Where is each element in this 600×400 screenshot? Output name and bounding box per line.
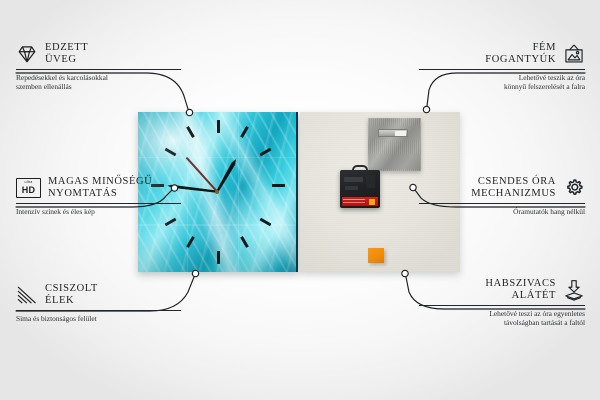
clock-mechanism [340,170,380,208]
feature-hd-print: ultra HD MAGAS MINŐSÉGŰ NYOMTATÁS Intenz… [16,176,181,216]
feature-divider [419,203,585,204]
feature-header: CSISZOLT ÉLEK [16,283,181,307]
mechanism-hanger-loop [352,165,368,172]
infographic-canvas: EDZETT ÜVEG Repedésekkel és karcolásokka… [0,0,600,400]
feature-divider [16,69,181,70]
mechanism-detail [344,177,363,182]
feature-title: MAGAS MINŐSÉGŰ NYOMTATÁS [48,176,152,200]
feature-header: HABSZIVACS ALÁTÉT [419,278,585,302]
gear-icon [563,177,585,199]
feature-description: Repedésekkel és karcolásokkal szemben el… [16,73,181,92]
orange-foam-spacer [368,248,384,263]
feature-header: CSENDES ÓRA MECHANIZMUS [419,176,585,200]
feature-silent-mechanism: CSENDES ÓRA MECHANIZMUS Óramutatók hang … [419,176,585,216]
feature-title: HABSZIVACS ALÁTÉT [485,278,556,302]
feature-header: FÉM FOGANTYÚK [419,42,585,66]
ultra-hd-big-label: HD [22,186,36,195]
mechanism-red-label [342,197,378,206]
feature-polished-edges: CSISZOLT ÉLEK Sima és biztonságos felüle… [16,283,181,323]
feature-description: Óramutatók hang nélkül [419,207,585,216]
feature-divider [16,203,181,204]
feature-divider [16,310,181,311]
feature-tempered-glass: EDZETT ÜVEG Repedésekkel és karcolásokka… [16,42,181,92]
feature-foam-pad: HABSZIVACS ALÁTÉT Lehetővé teszi az óra … [419,278,585,328]
mechanism-detail [345,186,358,190]
picture-frame-icon [563,43,585,65]
feature-title: FÉM FOGANTYÚK [485,42,556,66]
feature-description: Intenzív színek és éles kép [16,207,181,216]
ultra-hd-badge-icon: ultra HD [16,178,41,198]
feature-title: EDZETT ÜVEG [45,42,88,66]
feature-description: Sima és biztonságos felület [16,314,181,323]
product-composition [138,112,460,274]
feature-metal-hooks: FÉM FOGANTYÚK Lehetővé teszik az óra kön… [419,42,585,92]
hanger-keyhole-slot [378,129,408,137]
feature-title: CSISZOLT ÉLEK [45,283,98,307]
feature-divider [419,69,585,70]
brushed-metal-texture [368,118,421,171]
foam-spacer-icon [563,279,585,301]
feature-header: EDZETT ÜVEG [16,42,181,66]
feature-divider [419,305,585,306]
feature-title: CSENDES ÓRA MECHANIZMUS [471,176,556,200]
feature-header: ultra HD MAGAS MINŐSÉGŰ NYOMTATÁS [16,176,181,200]
metal-hanger-plate [368,118,421,171]
feature-description: Lehetővé teszi az óra egyenletes távolsá… [419,309,585,328]
mechanism-detail [366,175,375,188]
beveled-edge-icon [16,284,38,306]
feature-description: Lehetővé teszik az óra könnyű felszerelé… [419,73,585,92]
diamond-icon [16,43,38,65]
